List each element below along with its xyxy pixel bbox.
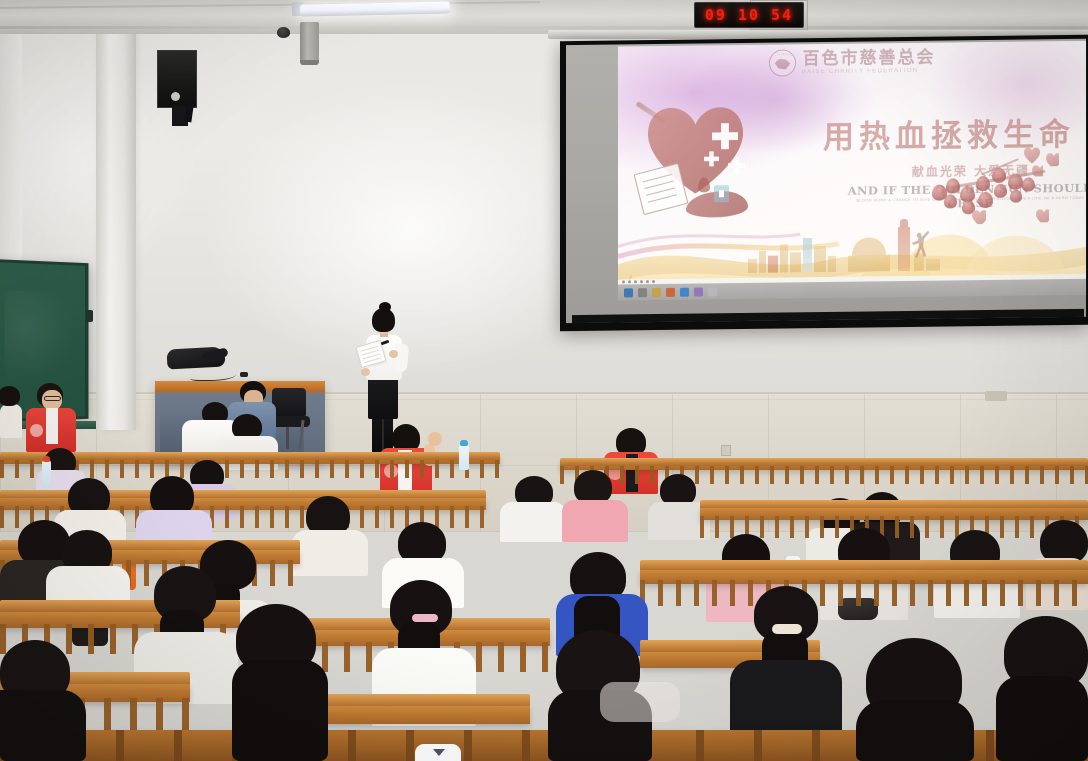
presenter-hand-left [361, 368, 370, 376]
projection-screen-surface: 百色市慈善总会 BAISE CHARITY FEDERATION [566, 39, 1086, 323]
projection-screen: 百色市慈善总会 BAISE CHARITY FEDERATION [560, 35, 1088, 331]
office-chair-leg-1 [286, 427, 289, 449]
taskbar-icon-explorer[interactable] [652, 287, 661, 296]
taskbar-icon-search[interactable] [638, 288, 647, 297]
audience-hair-long-f4 [996, 676, 1088, 761]
grape-10 [1008, 174, 1023, 190]
bottle-cap-2 [460, 440, 468, 446]
chalkboard-hinge [86, 310, 93, 322]
ceiling-dome-sensor-icon [277, 27, 290, 38]
building-8 [828, 256, 836, 272]
chalk-dust [4, 291, 76, 385]
water-bottle-2 [459, 444, 469, 470]
grape-12 [1022, 177, 1035, 191]
grape-2 [946, 178, 960, 193]
office-chair-back [272, 388, 306, 418]
desk-connector [240, 372, 248, 377]
audience-partial-left [0, 404, 22, 438]
chevron-down-icon[interactable] [433, 749, 445, 756]
dome-building [852, 237, 886, 255]
led-wall-clock: 09 10 54 [694, 2, 804, 28]
hair-tie-beige [772, 624, 802, 634]
taskbar-icon-app-4[interactable] [708, 287, 717, 296]
runner-silhouette-icon [908, 227, 930, 265]
org-name-block: 百色市慈善总会 BAISE CHARITY FEDERATION [803, 49, 936, 75]
bench-row-4r-slats [700, 516, 1088, 538]
org-name-cn: 百色市慈善总会 [803, 49, 936, 69]
building-2 [759, 251, 766, 273]
bench-row-5r-desk [560, 458, 1088, 466]
vest-logo [30, 424, 43, 437]
glasses-icon [44, 396, 61, 401]
grape-8 [992, 168, 1006, 183]
hair-tie-pink [412, 614, 438, 622]
presenter-trousers [368, 377, 398, 419]
grape-6 [976, 176, 990, 191]
audience-torso-b4 [562, 500, 628, 542]
audience-torso-b3 [500, 502, 566, 542]
shirt-front [46, 408, 58, 444]
building-7 [814, 246, 826, 272]
wall-pilaster [96, 30, 136, 430]
audience-torso-c3 [292, 530, 368, 576]
org-name-en: BAISE CHARITY FEDERATION [801, 68, 918, 75]
blood-drop-icon [698, 177, 710, 192]
bottle-cap-1 [43, 456, 50, 462]
audience-hair-long-f1 [232, 660, 328, 761]
ceiling-cylinder-speaker-icon [300, 22, 319, 62]
slide-header: 百色市慈善总会 BAISE CHARITY FEDERATION [618, 46, 1086, 79]
wall-outlet [985, 391, 1007, 401]
ceiling-seam [0, 26, 1088, 29]
water-bottle-1 [42, 460, 51, 488]
heart-illustration [640, 103, 760, 214]
lecture-hall-photo: 09 10 54 百色市慈善总会 BAISE CHARITY FEDERATIO… [0, 0, 1088, 761]
taskbar-icon-app-1[interactable] [666, 287, 675, 296]
building-4 [780, 244, 788, 272]
projection-screen-bottom-bar [572, 309, 1084, 323]
presenter-hair-bun [379, 302, 391, 312]
audience-hair-long-f3 [856, 700, 974, 761]
audience-hair-long-f5 [0, 690, 86, 761]
city-skyline-graphic [748, 224, 978, 273]
taskbar-icon-start[interactable] [624, 288, 633, 297]
heartdrop-icon-1 [1024, 147, 1040, 163]
taskbar-icon-app-3[interactable] [694, 287, 703, 296]
building-1 [748, 259, 757, 273]
clock-digits: 09 10 54 [705, 6, 793, 24]
heartdrop-icon-2 [1046, 153, 1059, 166]
building-9 [848, 255, 890, 272]
audience-partial-left-head [0, 386, 20, 406]
audience-head-b4 [574, 470, 612, 504]
bench-row-3r-slats [640, 580, 1088, 606]
plastic-bag-on-bench [600, 682, 680, 722]
bench-row-5r-slats [560, 466, 1088, 484]
projected-slide: 百色市慈善总会 BAISE CHARITY FEDERATION [618, 41, 1086, 301]
charity-seal-icon [769, 49, 796, 76]
taskbar-icon-app-2[interactable] [680, 287, 689, 296]
speaker-cone-icon [171, 92, 180, 101]
building-6 [803, 238, 812, 272]
wall-switch [721, 445, 731, 456]
presenter-hand-right [389, 350, 398, 358]
building-3 [768, 256, 778, 273]
building-5 [790, 252, 801, 272]
